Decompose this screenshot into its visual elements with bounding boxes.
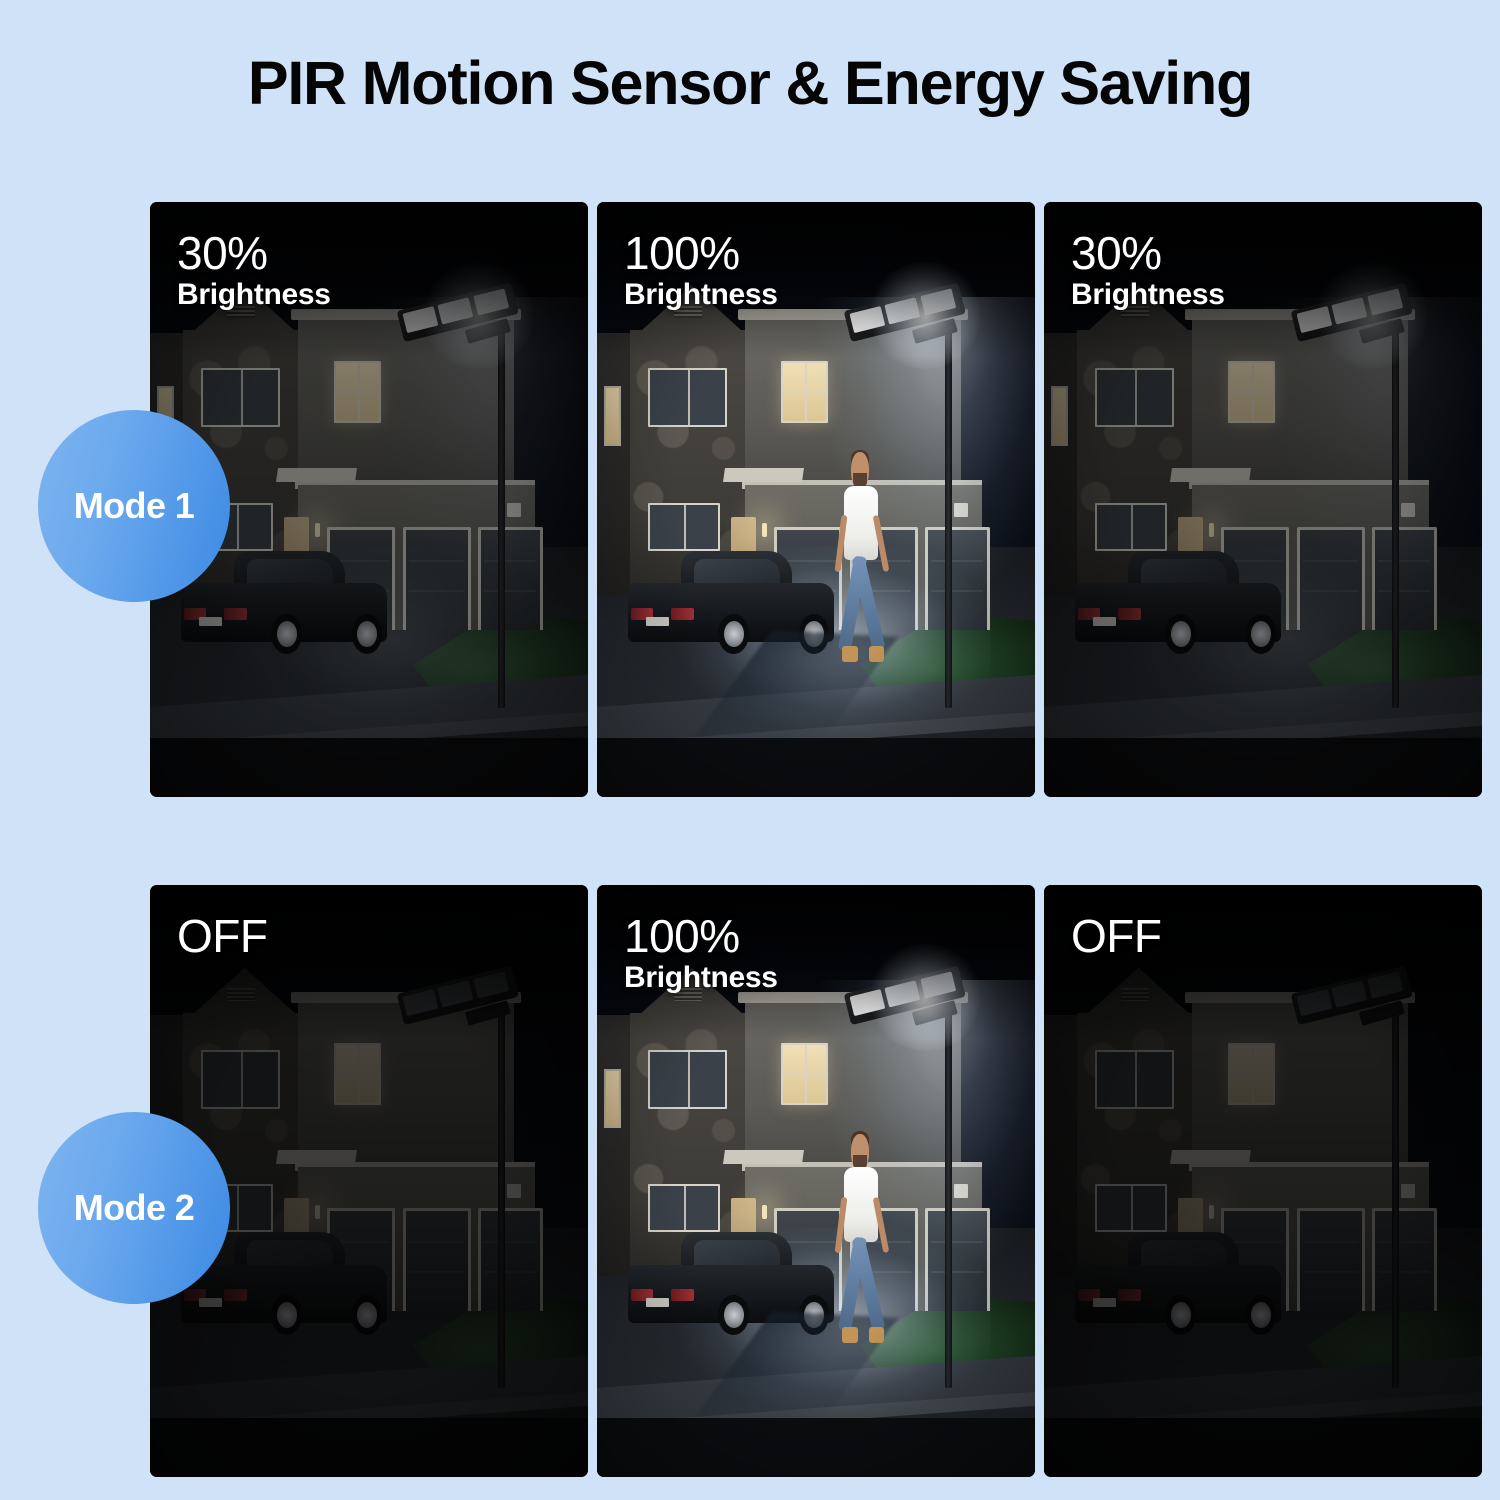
porch-light xyxy=(315,523,321,537)
window-upper-right xyxy=(781,361,828,423)
window-lower-left xyxy=(648,503,720,551)
walking-person xyxy=(829,452,895,678)
porch-light xyxy=(315,1205,321,1219)
mode-1-badge-label: Mode 1 xyxy=(74,485,194,527)
lamp-pole xyxy=(498,327,505,708)
wall-plaque xyxy=(507,1184,521,1198)
garage-door-2 xyxy=(1297,1208,1365,1311)
window-upper-left xyxy=(201,368,280,427)
panel-mode1-triggered[interactable]: 100% Brightness xyxy=(597,202,1035,797)
panel-mode2-triggered[interactable]: 100% Brightness xyxy=(597,885,1035,1477)
wall-plaque xyxy=(507,503,521,517)
page-title: PIR Motion Sensor & Energy Saving xyxy=(0,48,1500,118)
window-upper-left xyxy=(1095,368,1174,427)
window-lower-left xyxy=(1095,503,1167,551)
lamp-pole xyxy=(1392,1009,1399,1388)
window-upper-left xyxy=(1095,1050,1174,1108)
lamp-pole xyxy=(945,1009,952,1388)
garage-door-3 xyxy=(478,527,543,631)
garage-door-3 xyxy=(478,1208,543,1311)
porch-light xyxy=(1209,523,1215,537)
garage-door-2 xyxy=(403,1208,471,1311)
lamp-pole xyxy=(1392,327,1399,708)
porch-roof xyxy=(1170,1150,1251,1164)
parked-car xyxy=(1075,1234,1281,1335)
neighbor-window xyxy=(604,1069,622,1128)
gable-vent xyxy=(227,988,256,1000)
window-upper-right xyxy=(781,1043,828,1105)
lamp-pole xyxy=(945,327,952,708)
mode-2-badge-label: Mode 2 xyxy=(74,1187,194,1229)
window-upper-right xyxy=(1228,1043,1275,1105)
window-upper-right xyxy=(334,361,381,423)
gable-vent xyxy=(227,306,256,318)
porch-roof xyxy=(723,468,804,482)
porch-light xyxy=(762,523,768,537)
porch-roof xyxy=(276,1150,357,1164)
window-upper-left xyxy=(201,1050,280,1108)
parked-car xyxy=(1075,553,1281,654)
neighbor-window xyxy=(1051,386,1069,446)
porch-light xyxy=(1209,1205,1215,1219)
parked-car xyxy=(181,553,387,654)
mode-2-badge[interactable]: Mode 2 xyxy=(38,1112,230,1304)
garage-door-3 xyxy=(1372,527,1437,631)
lamp-pole xyxy=(498,1009,505,1388)
window-upper-right xyxy=(1228,361,1275,423)
wall-plaque xyxy=(1401,1184,1415,1198)
street xyxy=(150,738,588,798)
garage-door-2 xyxy=(403,527,471,631)
night-scene xyxy=(597,885,1035,1477)
porch-roof xyxy=(1170,468,1251,482)
street xyxy=(1044,738,1482,798)
street xyxy=(150,1418,588,1477)
street xyxy=(1044,1418,1482,1477)
panel-mode2-after[interactable]: OFF xyxy=(1044,885,1482,1477)
window-upper-left xyxy=(648,368,727,427)
street xyxy=(597,738,1035,798)
night-scene xyxy=(597,202,1035,797)
mode-1-badge[interactable]: Mode 1 xyxy=(38,410,230,602)
wall-plaque xyxy=(954,1184,968,1198)
panel-mode1-after[interactable]: 30% Brightness xyxy=(1044,202,1482,797)
window-upper-left xyxy=(648,1050,727,1108)
window-lower-left xyxy=(648,1184,720,1232)
walking-person xyxy=(829,1134,895,1359)
mode-2-panel-row: OFF xyxy=(150,885,1482,1477)
gable-vent xyxy=(1121,988,1150,1000)
night-scene xyxy=(1044,202,1482,797)
wall-plaque xyxy=(954,503,968,517)
wall-plaque xyxy=(1401,503,1415,517)
porch-roof xyxy=(723,1150,804,1164)
window-upper-right xyxy=(334,1043,381,1105)
gable-vent xyxy=(674,988,703,1000)
mode-1-panel-row: 30% Brightness xyxy=(150,202,1482,797)
gable-vent xyxy=(674,306,703,318)
garage-door-3 xyxy=(1372,1208,1437,1311)
garage-door-3 xyxy=(925,1208,990,1311)
porch-roof xyxy=(276,468,357,482)
neighbor-window xyxy=(604,386,622,446)
garage-door-2 xyxy=(1297,527,1365,631)
gable-vent xyxy=(1121,306,1150,318)
porch-light xyxy=(762,1205,768,1219)
window-lower-left xyxy=(1095,1184,1167,1232)
garage-door-3 xyxy=(925,527,990,631)
street xyxy=(597,1418,1035,1477)
night-scene xyxy=(1044,885,1482,1477)
